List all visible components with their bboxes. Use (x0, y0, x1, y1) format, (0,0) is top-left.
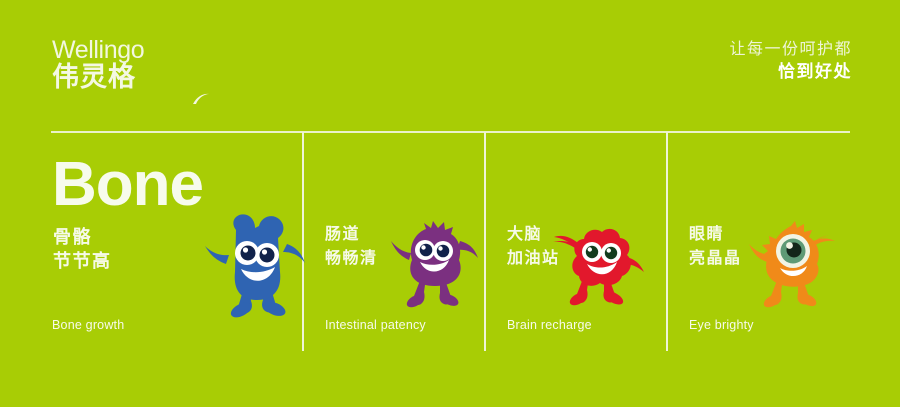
benefit-column-intestine: 肠道 畅畅清 Intestinal patency (303, 132, 484, 351)
poster-canvas: Wellingo 伟灵格 让每一份呵护都 恰到好处 Bone 骨骼 节节高 Bo… (0, 0, 900, 407)
leaf-sprout-mark-icon (192, 92, 210, 104)
benefit-column-brain: 大脑 加油站 Brain recharge (485, 132, 666, 351)
bone-caption: Bone growth (52, 317, 124, 333)
tagline-line-2: 恰到好处 (729, 60, 852, 84)
eye-chinese-line-1: 眼睛 (689, 222, 742, 246)
bone-heading: Bone (52, 154, 203, 216)
bone-chinese-line-2: 节节高 (53, 250, 112, 274)
brand-logo: Wellingo 伟灵格 (52, 36, 282, 96)
brand-chinese-name: 伟灵格 (52, 62, 136, 93)
eye-caption: Eye brighty (689, 317, 754, 333)
intestine-chinese-line-1: 肠道 (325, 222, 378, 246)
intestine-caption: Intestinal patency (325, 317, 426, 333)
eye-chinese-heading: 眼睛 亮晶晶 (689, 222, 742, 270)
eye-chinese-line-2: 亮晶晶 (689, 246, 742, 270)
brain-caption: Brain recharge (507, 317, 592, 333)
tagline: 让每一份呵护都 恰到好处 (729, 38, 852, 84)
intestine-chinese-line-2: 畅畅清 (325, 246, 378, 270)
brain-mascot (550, 220, 646, 308)
bone-chinese-heading: 骨骼 节节高 (53, 226, 112, 274)
bone-chinese-line-1: 骨骼 (53, 226, 112, 250)
eye-mascot (745, 220, 837, 308)
benefit-column-eye: 眼睛 亮晶晶 Eye brighty (667, 132, 850, 351)
bone-mascot (199, 210, 309, 320)
tagline-line-1: 让每一份呵护都 (729, 38, 852, 60)
intestine-mascot (388, 220, 480, 308)
benefit-column-bone: Bone 骨骼 节节高 Bone growth (51, 132, 302, 351)
intestine-chinese-heading: 肠道 畅畅清 (325, 222, 378, 270)
brand-latin-name: Wellingo (52, 36, 144, 64)
